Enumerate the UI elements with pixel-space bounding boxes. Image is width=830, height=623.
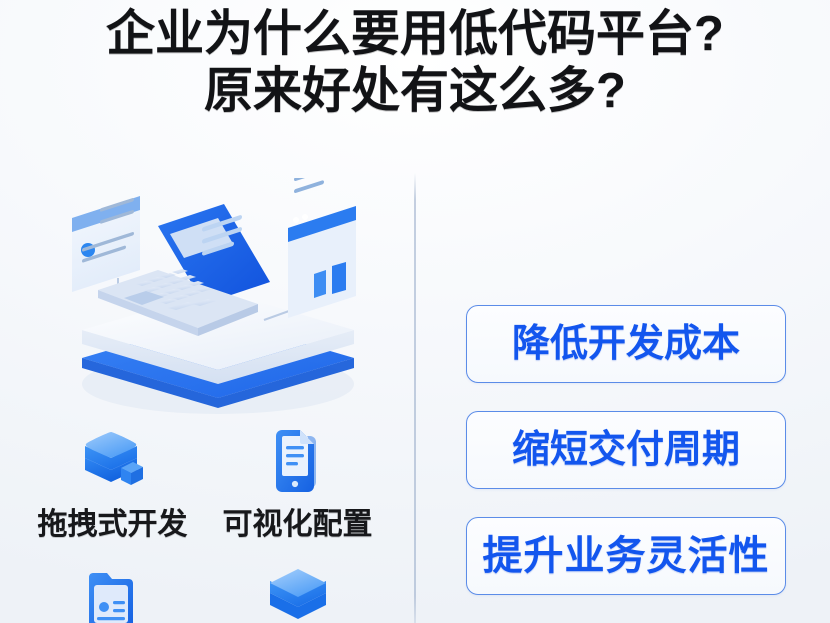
feature-item-third[interactable] bbox=[20, 563, 205, 623]
benefit-card-list: 降低开发成本 缩短交付周期 提升业务灵活性 bbox=[466, 305, 786, 623]
layers-cube-icon bbox=[75, 424, 151, 500]
benefit-card-business-agility[interactable]: 提升业务灵活性 bbox=[466, 517, 786, 595]
layers-stack-icon bbox=[260, 563, 336, 623]
title-line-1: 企业为什么要用低代码平台? bbox=[0, 6, 830, 63]
title-line-2: 原来好处有这么多? bbox=[0, 63, 830, 120]
feature-item-visual-config[interactable]: 可视化配置 bbox=[205, 424, 390, 542]
poster-title: 企业为什么要用低代码平台? 原来好处有这么多? bbox=[0, 0, 830, 120]
feature-icon-grid: 拖拽式开发 bbox=[20, 424, 410, 623]
benefit-card-label-2: 缩短交付周期 bbox=[512, 429, 740, 471]
feature-row-2 bbox=[20, 563, 410, 623]
feature-item-drag-drop[interactable]: 拖拽式开发 bbox=[20, 424, 205, 542]
feature-label-visual-config: 可视化配置 bbox=[223, 508, 373, 542]
floating-ui-panel-left bbox=[72, 196, 140, 292]
infographic-poster: 企业为什么要用低代码平台? 原来好处有这么多? bbox=[0, 0, 830, 623]
benefit-card-label-3: 提升业务灵活性 bbox=[483, 535, 770, 577]
feature-label-drag-drop: 拖拽式开发 bbox=[38, 508, 188, 542]
laptop-platform-illustration bbox=[28, 178, 408, 418]
benefit-card-label-1: 降低开发成本 bbox=[512, 323, 740, 365]
feature-item-fourth[interactable] bbox=[205, 563, 390, 623]
feature-row-1: 拖拽式开发 bbox=[20, 424, 410, 542]
benefit-card-reduce-cost[interactable]: 降低开发成本 bbox=[466, 305, 786, 383]
document-tablet-icon bbox=[260, 424, 336, 500]
benefit-card-shorten-delivery[interactable]: 缩短交付周期 bbox=[466, 411, 786, 489]
vertical-divider bbox=[414, 173, 416, 623]
floating-ui-panel-right bbox=[288, 178, 356, 318]
id-card-folder-icon bbox=[75, 563, 151, 623]
